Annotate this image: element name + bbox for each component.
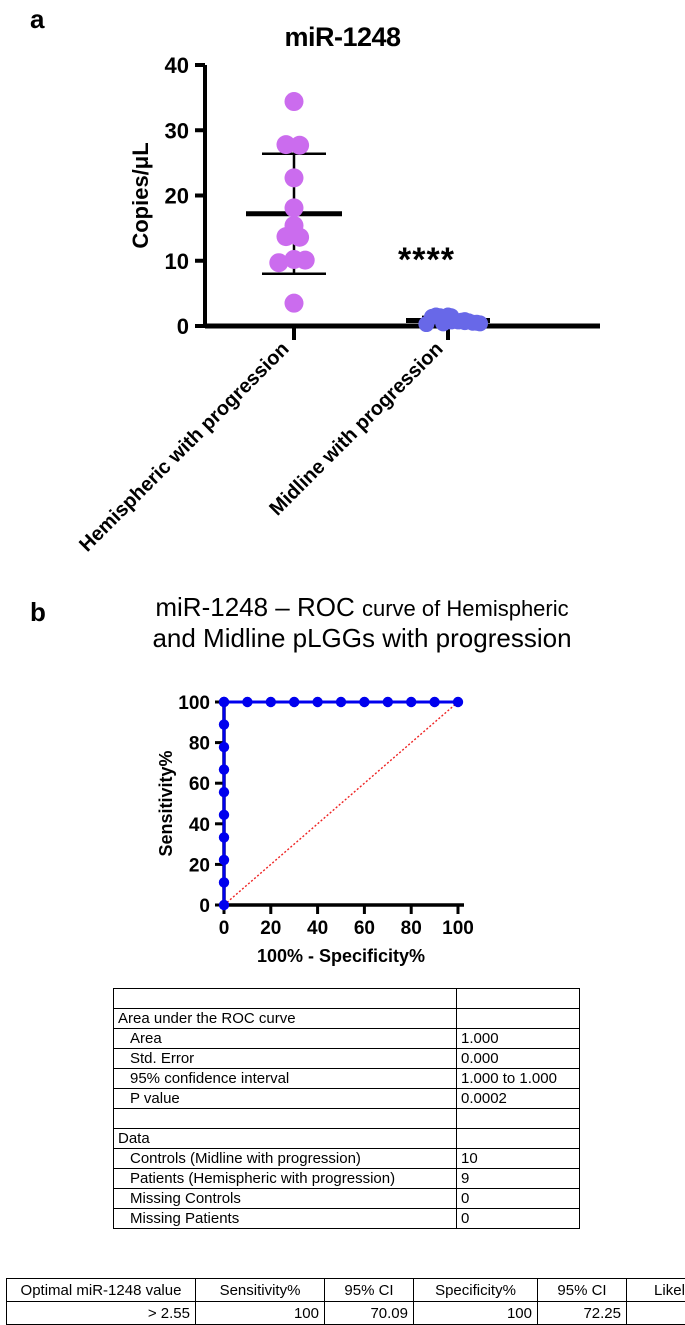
summary-table-header-4: 95% CI — [538, 1279, 627, 1302]
summary-table-cell-0: > 2.55 — [7, 1302, 196, 1325]
roc-curve-point — [453, 697, 463, 707]
roc-curve-point — [219, 787, 229, 797]
roc-x-axis-tick-label: 80 — [401, 918, 422, 939]
roc-curve-point — [219, 742, 229, 752]
roc-y-axis-tick-label: 100 — [178, 693, 210, 714]
roc-curve-point — [219, 810, 229, 820]
roc-statistics-table: Area under the ROC curveArea1.000Std. Er… — [113, 988, 580, 1229]
roc-curve-point — [219, 855, 229, 865]
roc-table-label-cell: 95% confidence interval — [114, 1069, 457, 1089]
table-spacer-row — [114, 1109, 580, 1129]
roc-curve-point — [219, 832, 229, 842]
roc-x-axis-tick-label: 20 — [260, 918, 281, 939]
roc-curve-point — [336, 697, 346, 707]
roc-x-axis-tick-label: 100 — [442, 918, 474, 939]
summary-table-body: > 2.5510070.0910072.25 — [7, 1302, 685, 1325]
roc-curve-point — [312, 697, 322, 707]
summary-table-head: Optimal miR-1248 valueSensitivity%95% CI… — [7, 1279, 685, 1302]
roc-x-axis-title: 100% - Specificity% — [257, 946, 425, 966]
roc-table-body: Area under the ROC curveArea1.000Std. Er… — [114, 989, 580, 1229]
roc-table-label-cell: Missing Controls — [114, 1189, 457, 1209]
table-row: Std. Error0.000 — [114, 1049, 580, 1069]
roc-x-axis-tick-label: 60 — [354, 918, 375, 939]
roc-table-value-cell — [457, 1109, 580, 1129]
roc-y-axis-tick-label: 40 — [189, 815, 210, 836]
y-axis-title: Copies/μL — [128, 142, 153, 248]
y-axis-tick-label: 40 — [165, 53, 189, 78]
roc-title-line2: and Midline pLGGs with progression — [152, 623, 571, 653]
y-axis-tick-label: 0 — [177, 314, 189, 339]
roc-table-label-cell: Std. Error — [114, 1049, 457, 1069]
table-header-row: Optimal miR-1248 valueSensitivity%95% CI… — [7, 1279, 685, 1302]
roc-table-label-cell: Controls (Midline with progression) — [114, 1149, 457, 1169]
roc-table-value-cell: 0 — [457, 1209, 580, 1229]
summary-table-header-0: Optimal miR-1248 value — [7, 1279, 196, 1302]
roc-curve-point — [266, 697, 276, 707]
roc-table-value-cell: 1.000 — [457, 1029, 580, 1049]
table-row: Data — [114, 1129, 580, 1149]
table-row: Area1.000 — [114, 1029, 580, 1049]
roc-table-value-cell: 0.000 — [457, 1049, 580, 1069]
panel-a-scatter: a miR-1248 010203040Copies/μLHemispheric… — [0, 0, 685, 580]
roc-curve-point — [406, 697, 416, 707]
y-axis-tick-label: 10 — [165, 249, 189, 274]
roc-y-axis-tick-label: 20 — [189, 855, 210, 876]
roc-table-value-cell — [457, 1129, 580, 1149]
summary-table-header-1: Sensitivity% — [196, 1279, 325, 1302]
table-row: Missing Patients0 — [114, 1209, 580, 1229]
summary-table-header-5: Likelihood ratio — [627, 1279, 685, 1302]
roc-curve-point — [219, 697, 229, 707]
table-row: Controls (Midline with progression)10 — [114, 1149, 580, 1169]
y-axis-tick-label: 20 — [165, 184, 189, 209]
data-point — [285, 294, 304, 313]
roc-curve-point — [219, 764, 229, 774]
roc-table-value-cell: 0 — [457, 1189, 580, 1209]
roc-y-axis-tick-label: 80 — [189, 734, 210, 755]
roc-table-label-cell: Area — [114, 1029, 457, 1049]
roc-table-value-cell: 1.000 to 1.000 — [457, 1069, 580, 1089]
roc-curve-line — [224, 702, 458, 905]
roc-title-line1-rest: curve of Hemispheric — [362, 596, 569, 621]
roc-table-label-cell — [114, 989, 457, 1009]
roc-table-label-cell: Patients (Hemispheric with progression) — [114, 1169, 457, 1189]
data-point — [472, 315, 488, 331]
roc-plot-title: miR-1248 – ROC curve of Hemispheric and … — [62, 592, 662, 653]
table-row: Area under the ROC curve — [114, 1009, 580, 1029]
summary-table-cell-2: 70.09 — [325, 1302, 414, 1325]
roc-x-axis-tick-label: 0 — [219, 918, 230, 939]
roc-table-value-cell — [457, 989, 580, 1009]
data-point — [290, 136, 309, 155]
table-spacer-row — [114, 989, 580, 1009]
roc-curve-point — [289, 697, 299, 707]
roc-y-axis-title: Sensitivity% — [156, 750, 176, 856]
roc-plot-svg: 020406080100020406080100100% - Specifici… — [0, 680, 685, 970]
scatter-plot-svg: 010203040Copies/μLHemispheric with progr… — [0, 0, 685, 580]
roc-table-value-cell: 10 — [457, 1149, 580, 1169]
table-row: P value0.0002 — [114, 1089, 580, 1109]
panel-b-roc: b miR-1248 – ROC curve of Hemispheric an… — [0, 580, 685, 1325]
y-axis-tick-label: 30 — [165, 118, 189, 143]
data-point — [285, 168, 304, 187]
data-point — [296, 251, 315, 270]
data-point — [285, 198, 304, 217]
roc-table-value-cell: 0.0002 — [457, 1089, 580, 1109]
roc-y-axis-tick-label: 60 — [189, 774, 210, 795]
roc-reference-diagonal — [224, 702, 458, 905]
significance-stars: **** — [398, 243, 455, 277]
roc-curve-point — [383, 697, 393, 707]
roc-title-line1-strong: miR-1248 – ROC — [155, 592, 354, 622]
summary-table-header-3: Specificity% — [414, 1279, 538, 1302]
optimal-cutoff-table: Optimal miR-1248 valueSensitivity%95% CI… — [6, 1278, 685, 1325]
summary-table-cell-4: 72.25 — [538, 1302, 627, 1325]
roc-table-value-cell: 9 — [457, 1169, 580, 1189]
roc-curve-point — [219, 900, 229, 910]
x-axis-category-label-1: Midline with progression — [265, 338, 447, 520]
table-row: 95% confidence interval1.000 to 1.000 — [114, 1069, 580, 1089]
panel-b-letter: b — [30, 599, 46, 625]
roc-table-label-cell: Data — [114, 1129, 457, 1149]
table-row: Missing Controls0 — [114, 1189, 580, 1209]
roc-curve-point — [242, 697, 252, 707]
summary-table-cell-5 — [627, 1302, 685, 1325]
roc-table-value-cell — [457, 1009, 580, 1029]
data-point — [285, 92, 304, 111]
table-row: Patients (Hemispheric with progression)9 — [114, 1169, 580, 1189]
roc-table-label-cell — [114, 1109, 457, 1129]
summary-table-cell-1: 100 — [196, 1302, 325, 1325]
roc-x-axis-tick-label: 40 — [307, 918, 328, 939]
summary-table-cell-3: 100 — [414, 1302, 538, 1325]
roc-table-label-cell: P value — [114, 1089, 457, 1109]
x-axis-category-label-0: Hemispheric with progression — [75, 338, 293, 556]
roc-curve-point — [359, 697, 369, 707]
roc-table-label-cell: Area under the ROC curve — [114, 1009, 457, 1029]
table-row: > 2.5510070.0910072.25 — [7, 1302, 685, 1325]
summary-table-header-2: 95% CI — [325, 1279, 414, 1302]
roc-table-label-cell: Missing Patients — [114, 1209, 457, 1229]
data-point — [290, 228, 309, 247]
roc-y-axis-tick-label: 0 — [199, 896, 210, 917]
roc-curve-point — [219, 719, 229, 729]
roc-curve-point — [429, 697, 439, 707]
roc-curve-point — [219, 877, 229, 887]
